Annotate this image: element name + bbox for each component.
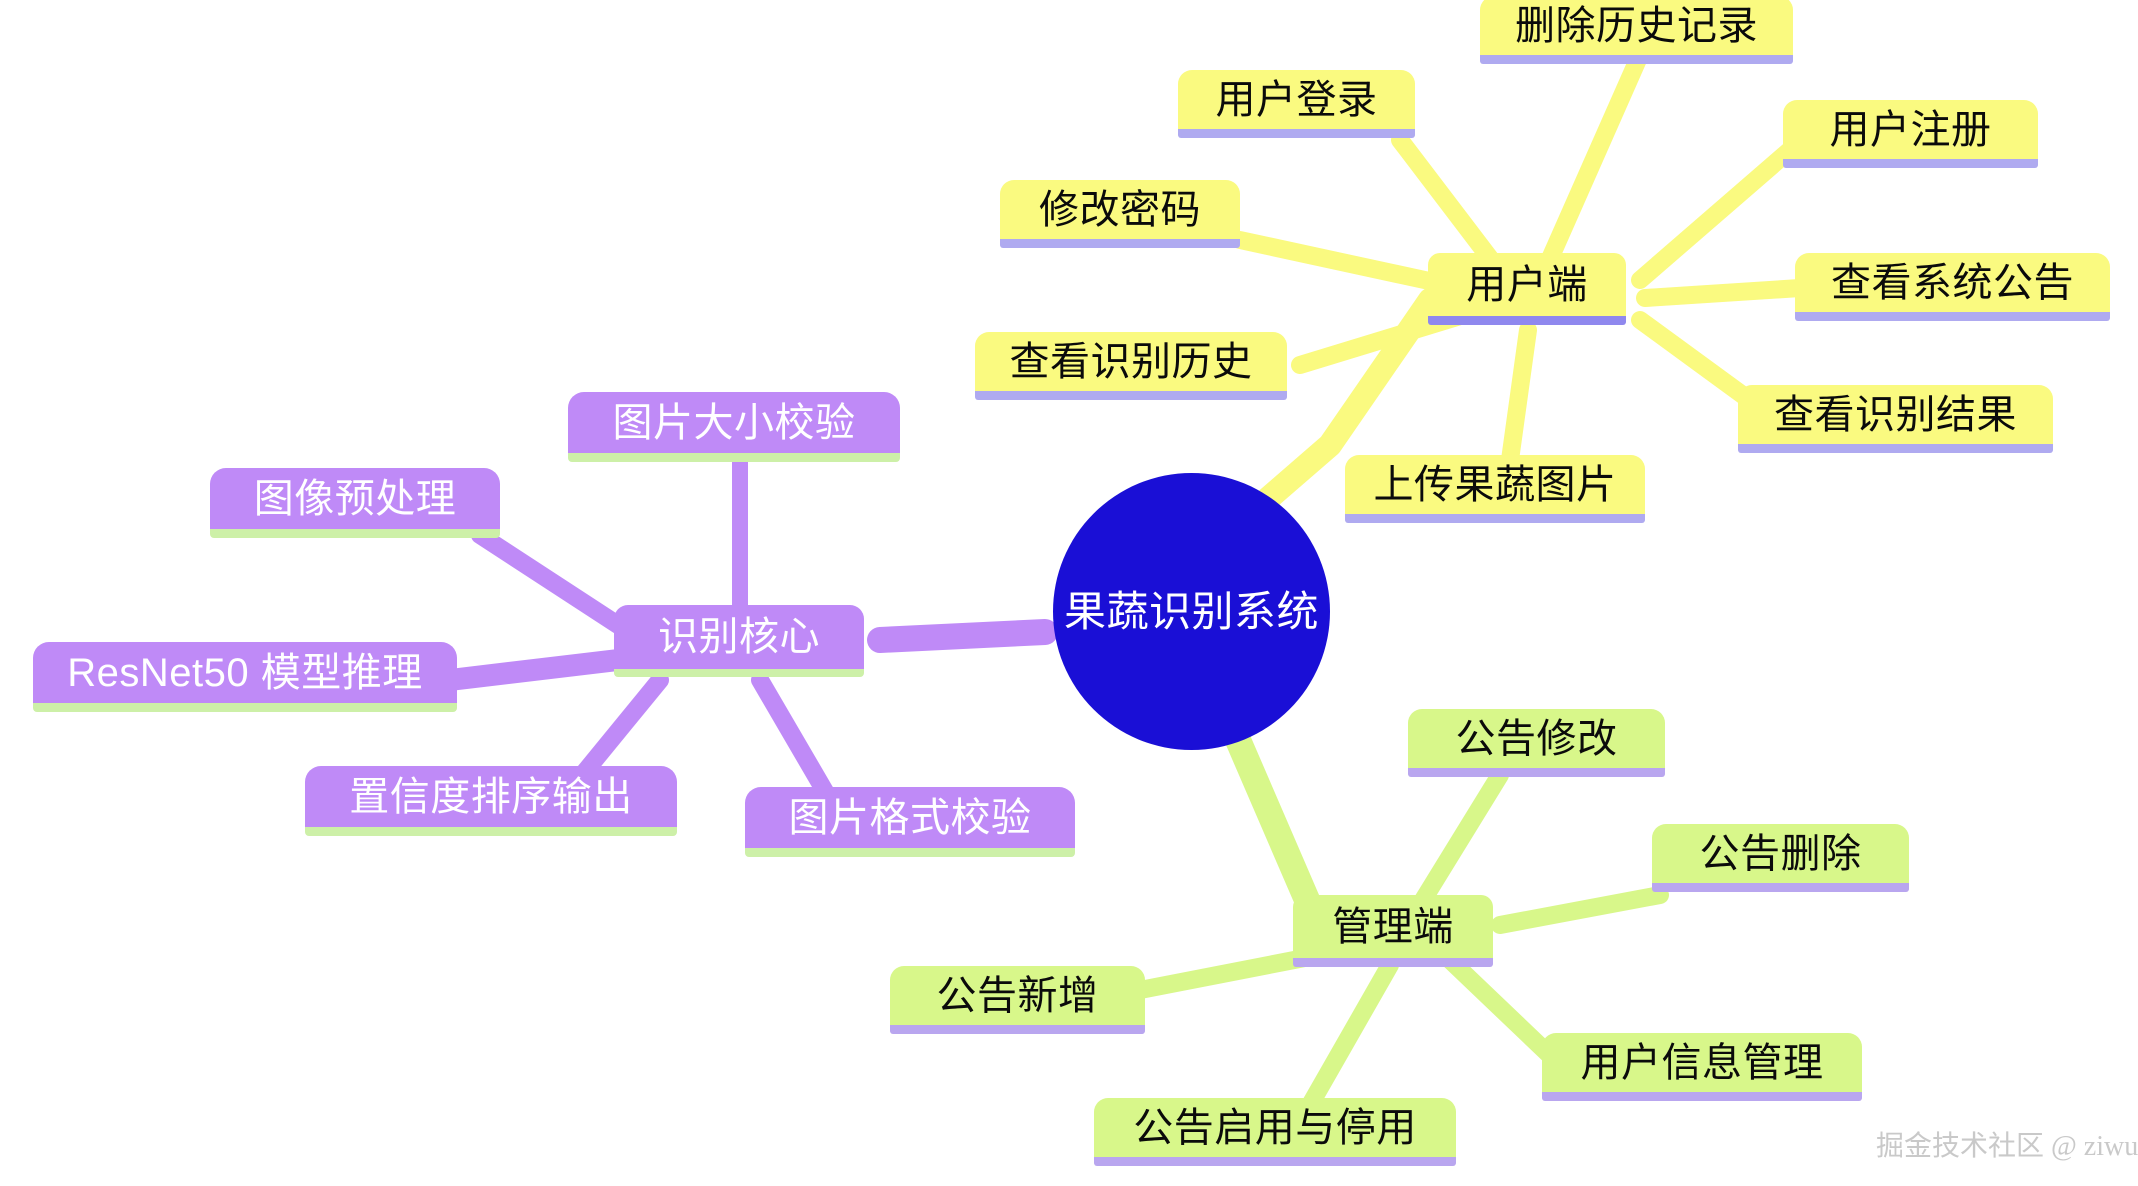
node-upload-image-label: 上传果蔬图片 — [1374, 465, 1617, 505]
node-view-announcement-label: 查看系统公告 — [1831, 263, 2074, 303]
node-user-info-management[interactable]: 用户信息管理 — [1542, 1033, 1862, 1101]
node-image-size-check-label: 图片大小校验 — [613, 403, 856, 443]
node-announcement-edit-label: 公告修改 — [1456, 719, 1618, 759]
node-user-register[interactable]: 用户注册 — [1783, 100, 2038, 168]
watermark-text: 掘金技术社区 @ ziwu — [1876, 1131, 2138, 1162]
node-announcement-add-label: 公告新增 — [937, 976, 1099, 1016]
node-view-result-label: 查看识别结果 — [1774, 395, 2017, 435]
node-delete-history-label: 删除历史记录 — [1515, 6, 1758, 46]
edge-user-to-u1 — [1545, 55, 1640, 270]
node-image-preprocess-label: 图像预处理 — [254, 479, 457, 519]
edge-user-to-u6 — [1645, 288, 1800, 298]
edge-user-to-u8 — [1510, 330, 1528, 460]
edge-core-to-c5 — [760, 680, 830, 800]
root-node-label: 果蔬识别系统 — [1064, 591, 1319, 633]
mindmap-canvas: 果蔬识别系统 用户端 删除历史记录 用户登录 修改密码 查看识别历史 用户注册 … — [0, 0, 2138, 1186]
hub-node-core[interactable]: 识别核心 — [614, 605, 864, 677]
root-node[interactable]: 果蔬识别系统 — [1053, 473, 1330, 750]
node-announcement-toggle[interactable]: 公告启用与停用 — [1094, 1098, 1456, 1166]
hub-node-core-label: 识别核心 — [658, 617, 820, 657]
edge-admin-to-a2 — [1500, 895, 1660, 925]
node-image-format-check-label: 图片格式校验 — [789, 798, 1032, 838]
edge-admin-to-a1 — [1420, 775, 1500, 905]
node-confidence-sort[interactable]: 置信度排序输出 — [305, 766, 677, 836]
node-user-info-management-label: 用户信息管理 — [1581, 1043, 1824, 1083]
hub-node-admin-label: 管理端 — [1332, 907, 1454, 947]
node-user-register-label: 用户注册 — [1830, 110, 1992, 150]
node-announcement-edit[interactable]: 公告修改 — [1408, 709, 1665, 777]
node-user-login-label: 用户登录 — [1216, 80, 1378, 120]
node-confidence-sort-label: 置信度排序输出 — [349, 777, 633, 817]
node-image-format-check[interactable]: 图片格式校验 — [745, 787, 1075, 857]
node-image-size-check[interactable]: 图片大小校验 — [568, 392, 900, 462]
hub-node-user[interactable]: 用户端 — [1428, 253, 1626, 325]
hub-node-user-label: 用户端 — [1466, 265, 1588, 305]
node-announcement-add[interactable]: 公告新增 — [890, 966, 1145, 1034]
edge-core-to-c3 — [450, 660, 618, 680]
edge-core-to-c2 — [480, 535, 618, 625]
node-view-announcement[interactable]: 查看系统公告 — [1795, 253, 2110, 321]
node-upload-image[interactable]: 上传果蔬图片 — [1345, 455, 1645, 523]
node-view-history[interactable]: 查看识别历史 — [975, 332, 1287, 400]
node-view-history-label: 查看识别历史 — [1010, 342, 1253, 382]
node-announcement-delete-label: 公告删除 — [1700, 834, 1862, 874]
edge-user-to-u5 — [1640, 150, 1790, 280]
edge-root-to-core — [880, 632, 1045, 640]
node-delete-history[interactable]: 删除历史记录 — [1480, 0, 1793, 64]
node-change-password-label: 修改密码 — [1039, 190, 1201, 230]
node-view-result[interactable]: 查看识别结果 — [1738, 385, 2053, 453]
node-image-preprocess[interactable]: 图像预处理 — [210, 468, 500, 538]
node-announcement-toggle-label: 公告启用与停用 — [1133, 1108, 1417, 1148]
node-resnet50-inference[interactable]: ResNet50 模型推理 — [33, 642, 457, 712]
node-user-login[interactable]: 用户登录 — [1178, 70, 1415, 138]
watermark: 掘金技术社区 @ ziwu — [1876, 1124, 2138, 1164]
node-change-password[interactable]: 修改密码 — [1000, 180, 1240, 248]
edge-admin-to-a5 — [1310, 965, 1390, 1105]
node-resnet50-inference-label: ResNet50 模型推理 — [67, 653, 422, 693]
node-announcement-delete[interactable]: 公告删除 — [1652, 824, 1909, 892]
hub-node-admin[interactable]: 管理端 — [1293, 895, 1493, 967]
